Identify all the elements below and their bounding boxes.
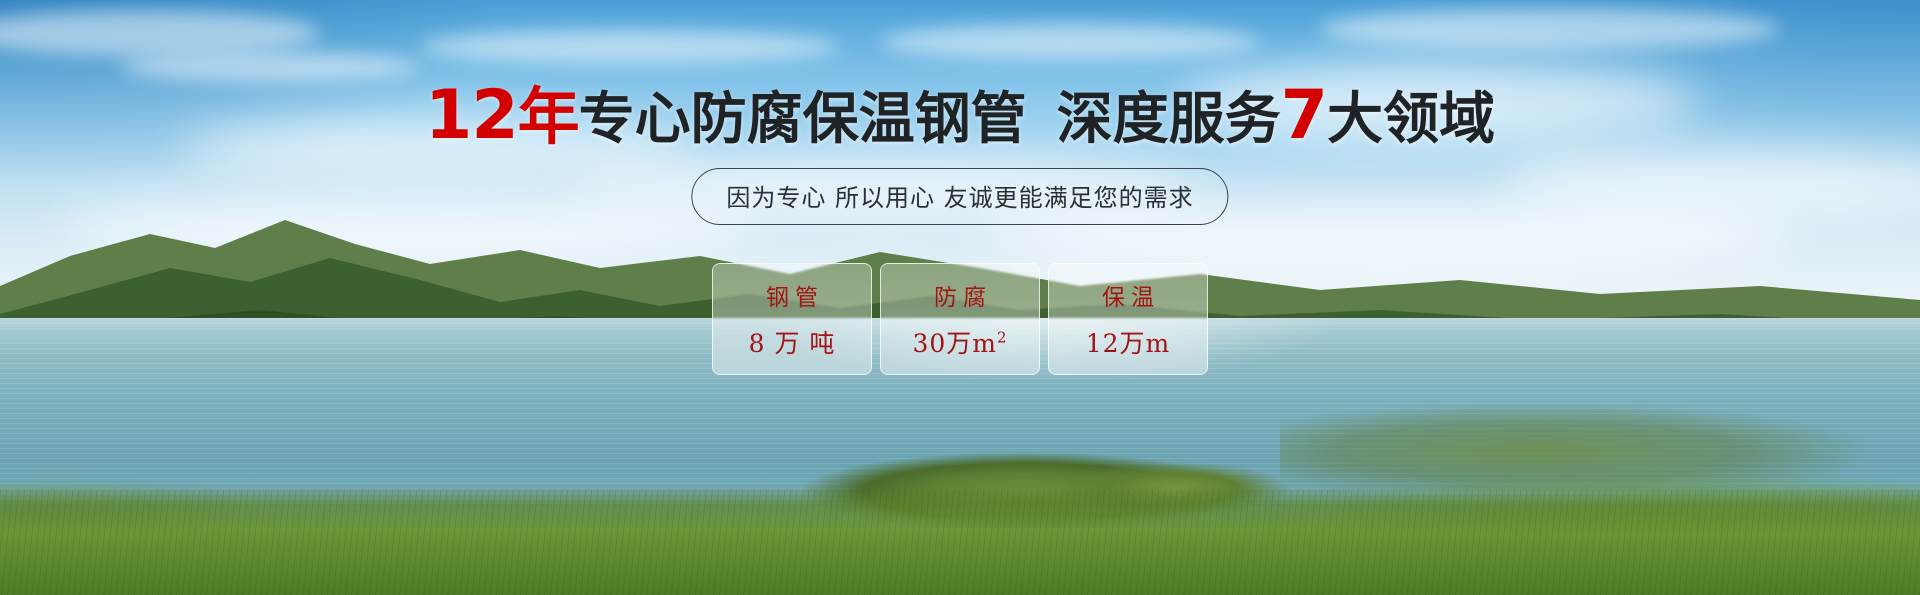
subtitle-pill: 因为专心 所以用心 友诚更能满足您的需求 [691,168,1228,225]
stats-row: 钢管 8 万 吨 防腐 30万m2 保温 12万m [712,263,1208,375]
years-number: 12 [425,76,518,155]
years-unit: 年 [518,80,579,153]
stat-card-anticorrosion: 防腐 30万m2 [880,263,1040,375]
fields-number: 7 [1281,76,1327,155]
headline-main-text: 专心防腐保温钢管 [579,87,1027,152]
stat-card-steel-pipe: 钢管 8 万 吨 [712,263,872,375]
stat-value: 12万m [1086,324,1171,360]
stat-value: 8 万 吨 [749,324,836,360]
headline: 12年专心防腐保温钢管深度服务7大领域 [0,82,1920,150]
stat-title: 保温 [1096,278,1160,312]
promo-banner: 12年专心防腐保温钢管深度服务7大领域 因为专心 所以用心 友诚更能满足您的需求… [0,0,1920,595]
stat-card-insulation: 保温 12万m [1048,263,1208,375]
stat-title: 防腐 [928,278,992,312]
stat-value-superscript: 2 [997,329,1008,347]
headline-service-text: 深度服务 [1057,87,1281,152]
stat-title: 钢管 [760,278,824,312]
headline-fields-text: 大领域 [1327,87,1495,152]
stat-value: 30万m2 [912,324,1007,360]
